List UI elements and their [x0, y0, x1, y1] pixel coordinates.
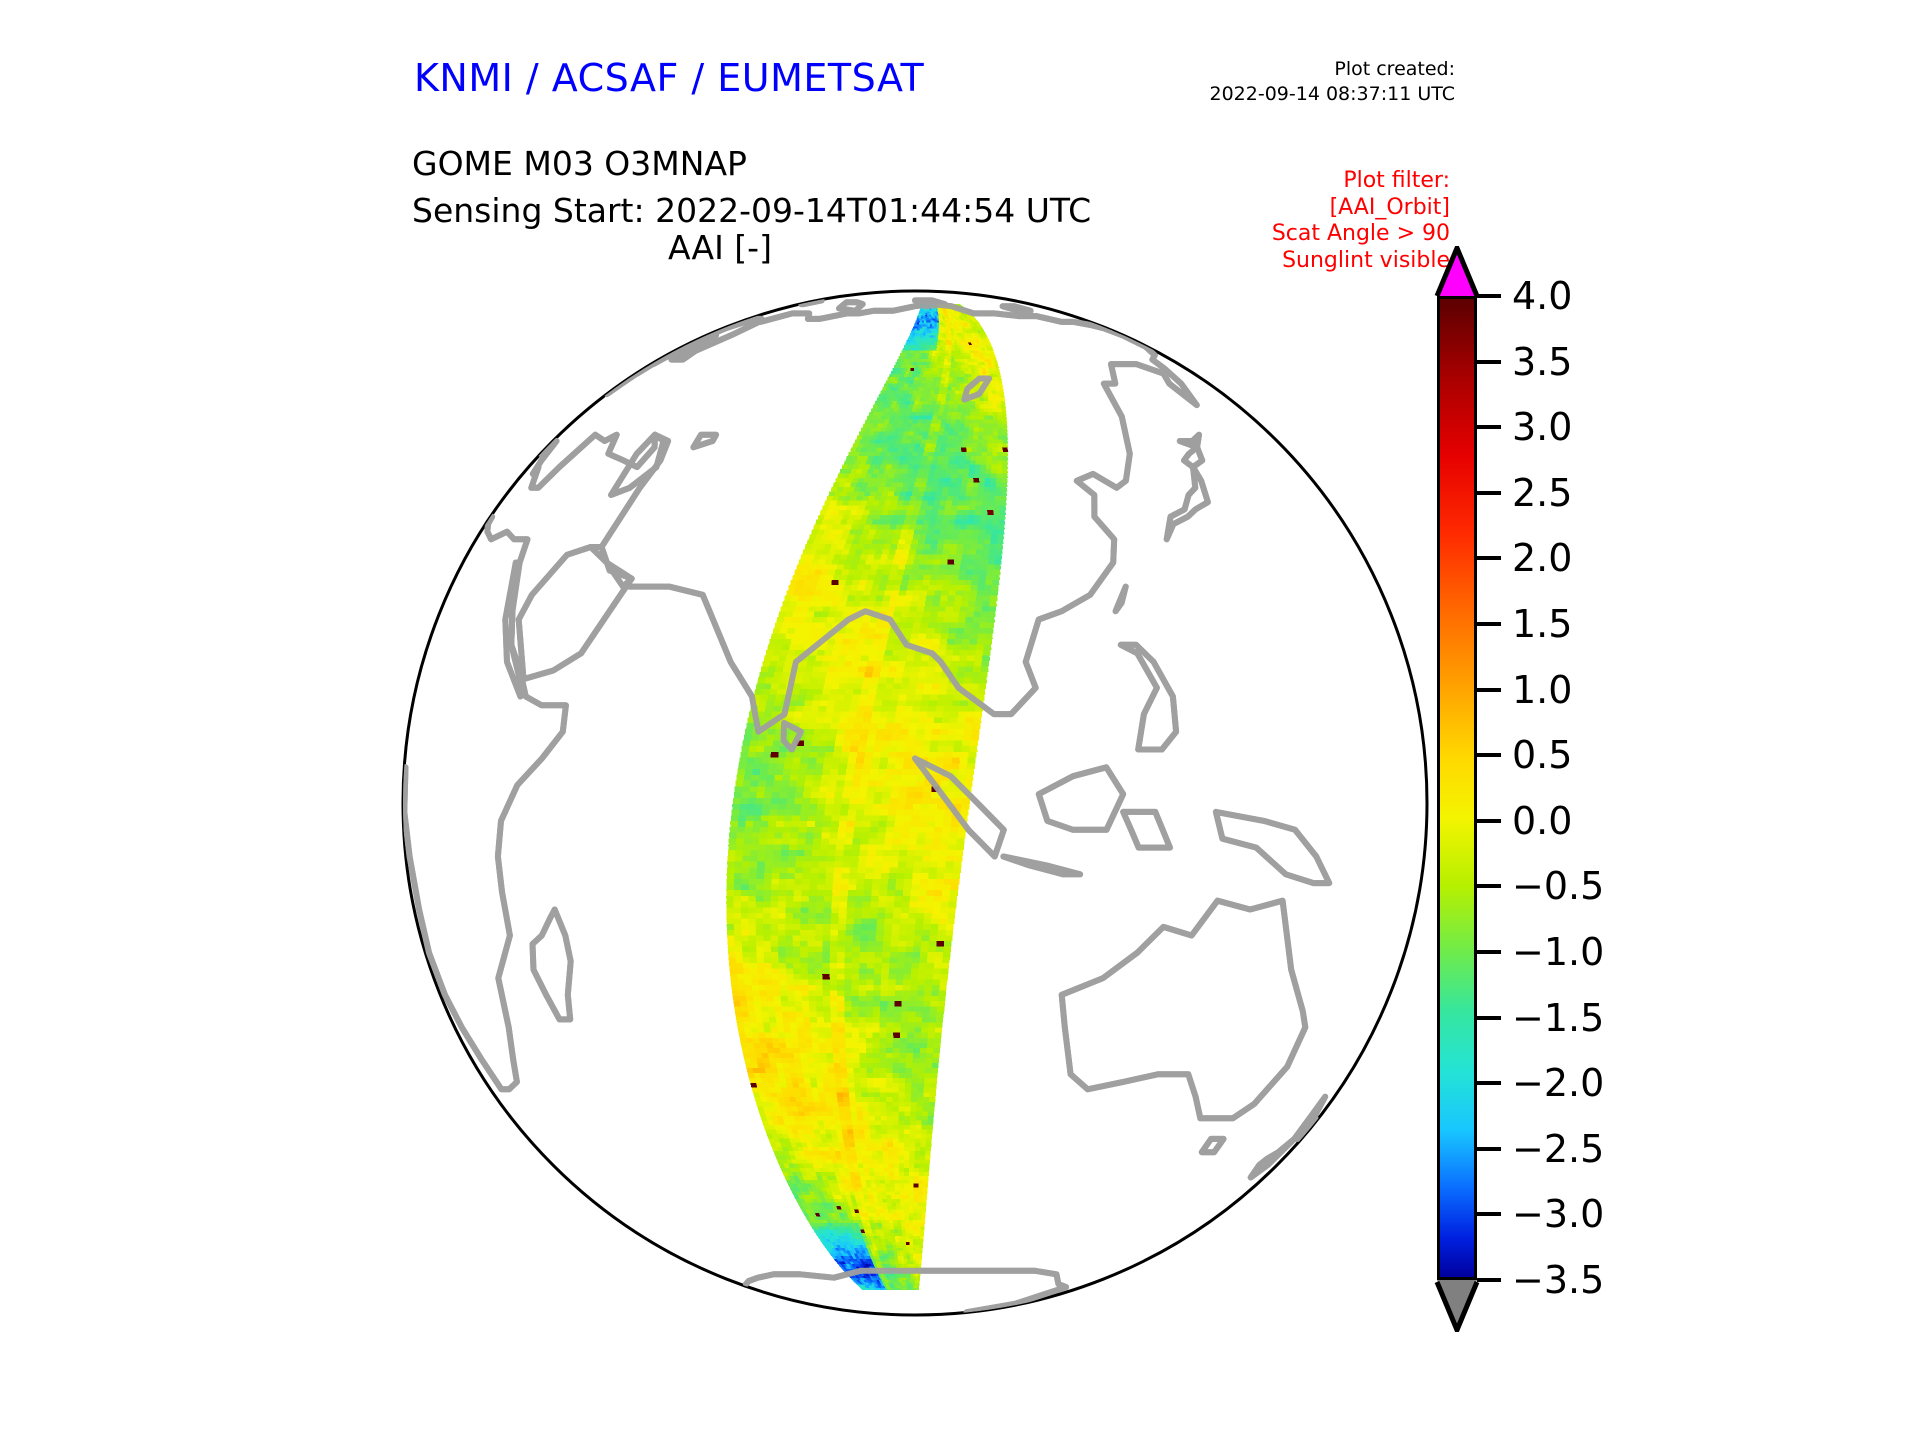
swath-pixel: [816, 683, 824, 689]
swath-pixel: [770, 919, 778, 925]
swath-pixel: [931, 575, 938, 580]
swath-pixel: [895, 606, 902, 611]
swath-pixel: [758, 980, 766, 985]
swath-pixel: [913, 1048, 920, 1053]
swath-pixel: [786, 1048, 793, 1053]
swath-pixel: [785, 924, 793, 930]
swath-pixel: [900, 781, 908, 787]
swath-pixel: [871, 408, 876, 412]
swath-pixel: [747, 1043, 754, 1048]
swath-pixel: [893, 839, 901, 845]
swath-pixel: [927, 324, 930, 326]
swath-pixel: [894, 902, 902, 908]
swath-pixel: [953, 695, 961, 701]
swath-pixel: [832, 1043, 839, 1048]
swath-pixel: [889, 667, 897, 673]
swath-pixel: [947, 639, 955, 645]
swath-pixel: [902, 827, 910, 833]
swath-pixel: [735, 850, 743, 856]
swath-pixel: [979, 401, 984, 405]
swath-pixel: [831, 723, 839, 729]
swath-pixel: [929, 340, 932, 343]
swath-pixel: [981, 510, 988, 515]
swath-pixel: [887, 534, 894, 539]
swath-pixel: [992, 448, 998, 452]
swath-pixel: [975, 465, 981, 469]
swath-pixel: [750, 1022, 757, 1027]
swath-pixel: [886, 827, 894, 833]
swath-pixel: [944, 380, 948, 383]
swath-pixel: [754, 1006, 762, 1011]
swath-pixel: [811, 792, 819, 798]
swath-pixel: [983, 491, 990, 496]
swath-pixel: [880, 1006, 887, 1011]
swath-pixel: [902, 423, 907, 427]
swath-pixel: [970, 591, 977, 596]
swath-pixel: [834, 505, 841, 510]
swath-pixel: [956, 478, 962, 483]
swath-pixel: [977, 544, 984, 549]
swath-pixel: [830, 980, 838, 985]
swath-pixel: [973, 617, 981, 622]
swath-pixel: [938, 356, 942, 359]
swath-pixel: [866, 667, 874, 673]
swath-pixel: [825, 712, 833, 718]
swath-pixel: [772, 873, 780, 879]
swath-pixel: [795, 792, 803, 798]
swath-pixel: [927, 439, 932, 443]
swath-pixel: [851, 850, 859, 856]
swath-pixel: [904, 758, 912, 764]
swath-pixel: [755, 1012, 763, 1017]
swath-pixel: [883, 787, 891, 793]
swath-pixel: [886, 559, 893, 564]
swath-pixel: [952, 873, 960, 879]
swath-pixel: [935, 712, 943, 718]
swath-pixel: [737, 974, 745, 980]
swath-pixel: [965, 416, 970, 420]
swath-pixel: [936, 1022, 943, 1027]
swath-pixel: [926, 596, 933, 601]
swath-pixel: [852, 443, 858, 447]
swath-pixel: [843, 856, 851, 862]
swath-pixel: [908, 729, 916, 735]
swath-pixel: [945, 478, 951, 483]
swath-pixel: [886, 452, 892, 456]
swath-pixel: [800, 591, 808, 596]
swath-pixel: [785, 919, 793, 925]
swath-pixel: [818, 867, 826, 873]
swath-pixel: [861, 930, 869, 936]
swath-pixel: [904, 351, 907, 354]
swath-pixel: [819, 596, 827, 601]
swath-pixel: [869, 510, 876, 515]
swath-pixel: [875, 452, 881, 456]
swath-pixel: [839, 539, 846, 544]
swath-pixel: [794, 570, 801, 575]
swath-pixel: [912, 374, 916, 377]
swath-pixel: [950, 717, 958, 723]
swath-pixel: [815, 930, 823, 936]
swath-pixel: [917, 639, 925, 645]
swath-pixel: [864, 525, 871, 530]
swath-pixel: [922, 935, 930, 941]
swath-pixel: [963, 469, 969, 473]
swath-pixel: [879, 420, 884, 424]
swath-pixel: [796, 601, 804, 606]
swath-pixel: [798, 1033, 805, 1038]
swath-pixel: [935, 353, 939, 356]
swath-pixel: [748, 907, 756, 913]
swath-pixel: [864, 565, 871, 570]
swath-pixel: [936, 351, 940, 354]
swath-pixel: [784, 763, 792, 769]
swath-pixel: [966, 612, 974, 617]
swath-pixel: [805, 596, 813, 601]
swath-pixel: [774, 700, 782, 706]
swath-pixel: [833, 712, 841, 718]
swath-pixel: [847, 717, 855, 723]
swath-pixel: [866, 746, 874, 752]
swath-pixel: [915, 735, 923, 741]
swath-pixel: [950, 510, 957, 515]
swath-pixel: [883, 947, 891, 953]
swath-pixel: [862, 683, 870, 689]
swath-pixel: [877, 591, 884, 596]
swath-pixel: [907, 740, 915, 746]
swath-pixel: [948, 408, 953, 412]
swath-pixel: [974, 612, 982, 617]
swath-pixel: [860, 473, 866, 477]
swath-pixel: [925, 985, 932, 990]
swath-pixel: [887, 717, 895, 723]
swath-pixel: [902, 606, 909, 611]
swath-pixel: [901, 351, 904, 354]
swath-pixel: [991, 460, 997, 464]
swath-pixel: [837, 996, 845, 1001]
swath-pixel: [794, 798, 802, 804]
swath-pixel: [837, 958, 845, 964]
swath-pixel: [927, 335, 930, 337]
swath-pixel: [814, 769, 822, 775]
swath-pixel: [887, 1017, 894, 1022]
swath-pixel: [926, 318, 928, 320]
swath-pixel: [872, 639, 880, 645]
swath-pixel: [754, 1048, 761, 1053]
swath-pixel: [901, 529, 908, 534]
swath-pixel: [879, 469, 885, 473]
swath-pixel: [786, 655, 794, 661]
swath-pixel: [963, 435, 969, 439]
swath-pixel: [913, 326, 915, 328]
swath-pixel: [736, 844, 744, 850]
swath-pixel: [883, 570, 890, 575]
swath-pixel: [873, 996, 880, 1001]
swath-pixel: [855, 763, 863, 769]
swath-pixel: [897, 952, 905, 958]
swath-pixel: [884, 781, 892, 787]
swath-pixel: [889, 391, 894, 394]
swath-pixel: [925, 356, 929, 359]
swath-pixel: [860, 844, 868, 850]
swath-pixel: [910, 401, 914, 405]
swath-pixel: [859, 958, 867, 964]
swath-pixel: [905, 947, 913, 953]
swath-pixel: [728, 850, 736, 856]
swath-pixel: [833, 539, 840, 544]
swath-pixel: [738, 985, 746, 990]
swath-pixel: [945, 401, 950, 405]
swath-pixel: [836, 850, 844, 856]
swath-pixel: [758, 678, 766, 684]
swath-pixel: [729, 839, 737, 845]
swath-pixel: [789, 1012, 797, 1017]
swath-pixel: [848, 885, 856, 891]
swath-pixel: [933, 1048, 940, 1053]
swath-pixel: [965, 672, 973, 678]
swath-pixel: [744, 1058, 751, 1063]
swath-pixel: [985, 633, 993, 639]
swath-pixel: [917, 775, 925, 781]
swath-pixel: [990, 482, 997, 487]
swath-pixel: [886, 723, 894, 729]
swath-pixel: [904, 405, 909, 409]
swath-pixel: [946, 644, 954, 650]
swath-pixel: [877, 397, 882, 401]
swath-pixel: [839, 763, 847, 769]
swath-pixel: [801, 890, 809, 896]
swath-pixel: [912, 565, 919, 570]
swath-pixel: [911, 456, 916, 460]
swath-pixel: [830, 985, 838, 990]
swath-pixel: [894, 678, 902, 684]
swath-pixel: [880, 534, 887, 539]
swath-pixel: [822, 827, 830, 833]
swath-pixel: [921, 867, 929, 873]
swath-pixel: [870, 591, 877, 596]
swath-pixel: [844, 963, 852, 969]
swath-pixel: [941, 833, 949, 839]
swath-pixel: [934, 408, 939, 412]
swath-pixel: [763, 935, 771, 941]
swath-pixel: [945, 374, 949, 377]
swath-pixel: [865, 639, 873, 645]
swath-pixel: [944, 706, 952, 712]
swath-pixel: [971, 448, 977, 452]
swath-pixel: [944, 758, 952, 764]
swath-pixel: [780, 862, 788, 868]
swath-pixel: [931, 487, 937, 492]
swath-pixel: [863, 763, 871, 769]
swath-pixel: [817, 601, 825, 606]
swath-pixel: [927, 958, 935, 964]
swath-pixel: [953, 606, 960, 611]
swath-pixel: [925, 639, 933, 645]
swath-pixel: [756, 935, 764, 941]
swath-pixel: [954, 456, 960, 460]
swath-pixel: [815, 935, 823, 941]
swath-pixel: [856, 496, 862, 501]
swath-pixel: [933, 478, 939, 483]
swath-pixel: [922, 695, 930, 701]
swath-pixel: [905, 343, 908, 346]
swath-pixel: [873, 1028, 880, 1033]
swath-pixel: [840, 896, 848, 902]
swath-pixel: [795, 1006, 803, 1011]
swath-pixel: [860, 487, 866, 492]
swath-pixel: [930, 469, 936, 473]
swath-pixel: [906, 941, 914, 947]
swath-pixel: [928, 343, 931, 346]
swath-pixel: [970, 501, 977, 506]
swath-pixel: [782, 1017, 789, 1022]
swath-pixel: [914, 862, 922, 868]
swath-pixel: [947, 362, 951, 365]
swath-pixel: [916, 913, 924, 919]
swath-pixel: [938, 996, 945, 1001]
swath-pixel: [873, 1038, 880, 1043]
swath-pixel: [937, 345, 940, 348]
swath-pixel: [762, 689, 770, 695]
swath-pixel: [958, 469, 964, 473]
swath-pixel: [865, 585, 872, 590]
swath-pixel: [920, 320, 922, 322]
swath-pixel: [805, 617, 813, 622]
swath-pixel: [764, 712, 772, 718]
swath-pixel: [856, 810, 864, 816]
swath-pixel: [748, 896, 756, 902]
swath-pixel: [919, 329, 922, 331]
swath-pixel: [923, 340, 926, 343]
swath-pixel: [838, 655, 846, 661]
swath-pixel: [923, 416, 928, 420]
swath-pixel: [775, 1012, 783, 1017]
swath-pixel: [862, 913, 870, 919]
swath-pixel: [909, 340, 912, 343]
swath-pixel: [821, 612, 829, 617]
swath-pixel: [844, 850, 852, 856]
swath-pixel: [796, 565, 803, 570]
swath-pixel: [973, 667, 981, 673]
swath-pixel: [852, 947, 860, 953]
swath-pixel: [828, 850, 836, 856]
swath-pixel: [903, 985, 910, 990]
swath-pixel: [809, 534, 816, 539]
swath-pixel: [782, 839, 790, 845]
swath-pixel: [1002, 456, 1008, 460]
swath-pixel: [908, 394, 912, 398]
swath-pixel: [965, 775, 973, 781]
swath-pixel: [893, 1053, 900, 1058]
swath-pixel: [881, 633, 889, 639]
swath-pixel: [917, 839, 925, 845]
swath-pixel: [852, 980, 860, 985]
swath-pixel: [806, 1048, 813, 1053]
swath-pixel: [931, 539, 938, 544]
swath-pixel: [751, 735, 759, 741]
swath-pixel: [767, 1001, 775, 1006]
swath-pixel: [785, 758, 793, 764]
swath-pixel: [875, 787, 883, 793]
swath-pixel: [761, 1048, 768, 1053]
swath-pixel: [911, 423, 916, 427]
swath-pixel: [845, 947, 853, 953]
swath-pixel: [903, 672, 911, 678]
swath-pixel: [919, 969, 927, 974]
swath-pixel: [880, 810, 888, 816]
swath-pixel: [759, 839, 767, 845]
swath-pixel: [807, 1053, 814, 1058]
swath-pixel: [807, 821, 815, 827]
swath-pixel: [832, 902, 840, 908]
swath-pixel: [849, 460, 855, 464]
swath-pixel: [794, 1053, 801, 1058]
swath-pixel: [899, 515, 905, 520]
swath-pixel: [758, 740, 766, 746]
swath-pixel: [833, 482, 839, 487]
swath-pixel: [809, 810, 817, 816]
swath-pixel: [904, 374, 908, 377]
swath-pixel: [808, 919, 816, 925]
swath-pixel: [933, 416, 938, 420]
swath-pixel: [939, 985, 946, 990]
swath-pixel: [745, 1033, 752, 1038]
swath-pixel: [976, 549, 983, 554]
swath-pixel: [926, 405, 931, 409]
swath-pixel: [859, 990, 867, 995]
swath-pixel: [947, 913, 955, 919]
swath-pixel: [816, 815, 824, 821]
swath-pixel: [830, 689, 838, 695]
swath-pixel: [790, 775, 798, 781]
swath-pixel: [908, 580, 915, 585]
swath-pixel: [886, 644, 894, 650]
swath-pixel: [917, 359, 921, 362]
swath-pixel: [923, 315, 925, 317]
swath-pixel: [900, 405, 905, 409]
swath-pixel: [885, 539, 892, 544]
swath-pixel: [748, 930, 756, 936]
swath-pixel: [832, 559, 839, 564]
swath-pixel: [905, 958, 913, 964]
swath-pixel: [805, 667, 813, 673]
swath-pixel: [735, 862, 743, 868]
sensing-start: Sensing Start: 2022-09-14T01:44:54 UTC: [412, 187, 1091, 234]
swath-pixel: [801, 996, 809, 1001]
swath-pixel: [880, 1017, 887, 1022]
swath-pixel: [807, 769, 815, 775]
swath-pixel: [882, 435, 887, 439]
swath-pixel: [813, 667, 821, 673]
swath-pixel: [741, 890, 749, 896]
swath-pixel: [800, 633, 808, 639]
swath-pixel: [858, 867, 866, 873]
swath-pixel: [749, 941, 757, 947]
plot-filter-block: Plot filter: [AAI_Orbit] Scat Angle > 90…: [1160, 168, 1450, 274]
swath-pixel: [835, 591, 843, 596]
swath-pixel: [844, 460, 850, 464]
swath-pixel: [1000, 496, 1007, 501]
swath-pixel: [954, 644, 962, 650]
swath-pixel: [922, 580, 929, 585]
swath-pixel: [979, 405, 984, 409]
swath-pixel: [986, 520, 993, 525]
swath-pixel: [907, 345, 910, 348]
swath-pixel: [807, 661, 815, 667]
swath-pixel: [803, 549, 810, 554]
swath-pixel: [830, 1012, 837, 1017]
swath-pixel: [871, 448, 877, 452]
